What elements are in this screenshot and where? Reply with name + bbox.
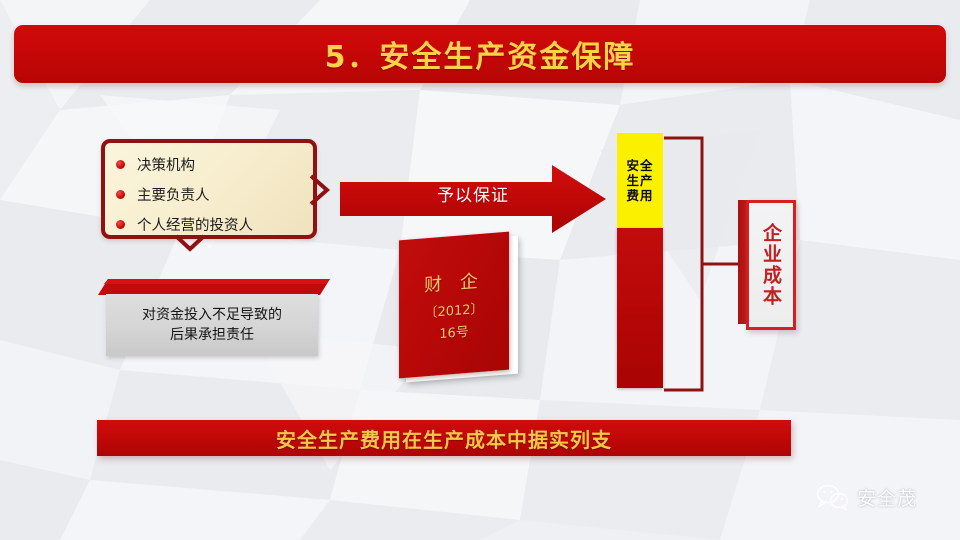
wechat-icon (816, 484, 850, 511)
document-line-3: 16号 (439, 321, 469, 342)
slide-canvas: 5．安全生产资金保障 决策机构 主要负责人 个人经营的投资人 对资金投入不足导致… (0, 0, 960, 540)
consequence-line-2: 后果承担责任 (170, 325, 254, 345)
fee-line-1: 安全 (626, 158, 653, 173)
cost-bar-safety-fee-segment: 安全 生产 费用 (617, 133, 663, 228)
callout-chevron-right-icon (309, 174, 331, 206)
guarantee-arrow (340, 165, 606, 233)
title-banner: 5．安全生产资金保障 (14, 25, 946, 83)
page-title: 5．安全生产资金保障 (325, 32, 636, 76)
document-line-2: 〔2012〕 (424, 298, 483, 322)
bullet-label: 个人经营的投资人 (137, 214, 253, 235)
list-item: 个人经营的投资人 (105, 209, 313, 239)
bottom-banner: 安全生产费用在生产成本中据实列支 (97, 420, 791, 456)
bullet-dot-icon (116, 220, 125, 229)
cost-bar-other-cost-segment (617, 228, 663, 388)
bullet-label: 决策机构 (137, 154, 195, 175)
callout-chevron-bottom-icon (174, 234, 206, 254)
enterprise-cost-box: 企业成本 (746, 200, 796, 330)
consequence-box: 对资金投入不足导致的 后果承担责任 (106, 294, 318, 356)
watermark-label: 安全茂 (857, 484, 917, 511)
bullet-label: 主要负责人 (137, 184, 210, 205)
responsible-parties-callout: 决策机构 主要负责人 个人经营的投资人 (101, 139, 317, 239)
document-cover: 财 企 〔2012〕 16号 (399, 232, 509, 379)
watermark: 安全茂 (816, 484, 917, 511)
list-item: 主要负责人 (105, 179, 313, 209)
list-item: 决策机构 (105, 149, 313, 179)
consequence-line-1: 对资金投入不足导致的 (142, 305, 282, 325)
cost-bar: 安全 生产 费用 (617, 133, 663, 388)
fee-line-3: 费用 (626, 188, 653, 203)
regulation-document: 财 企 〔2012〕 16号 (396, 236, 528, 384)
fee-line-2: 生产 (626, 173, 653, 188)
bullet-dot-icon (116, 160, 125, 169)
bullet-dot-icon (116, 190, 125, 199)
bottom-banner-text: 安全生产费用在生产成本中据实列支 (276, 424, 612, 453)
document-line-1: 财 企 (424, 267, 484, 298)
enterprise-cost-label: 企业成本 (759, 223, 783, 307)
